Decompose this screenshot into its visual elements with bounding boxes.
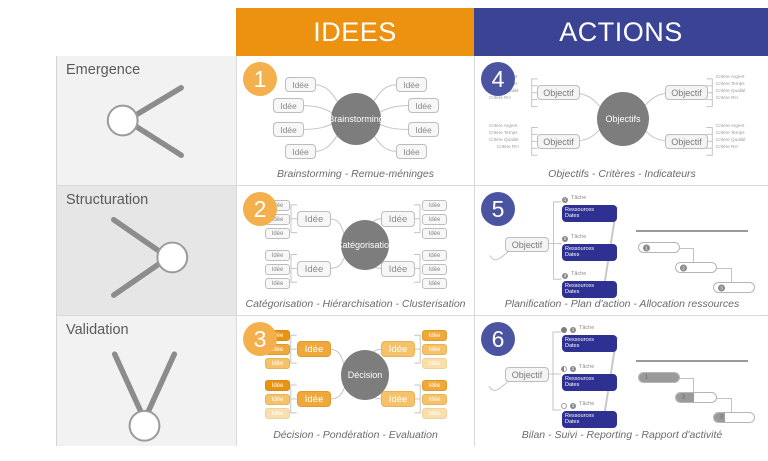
root-objectif: Objectif: [505, 367, 549, 382]
task-number: 1: [570, 327, 576, 333]
badge-5: 5: [481, 192, 515, 226]
sub-idee: Idée: [422, 394, 447, 405]
sub-idee: Idée: [422, 200, 447, 211]
sub-idee: Idée: [422, 358, 447, 369]
sub-idee: Idée: [265, 228, 290, 239]
diagram-cell-planification: 5 Objectif 1 Tâche Ressources Dates: [475, 186, 768, 315]
sub-idee: Idée: [422, 344, 447, 355]
criterion-label: Critère Temps: [489, 130, 518, 135]
sub-idee: Idée: [265, 408, 290, 419]
task-label: Tâche: [571, 195, 586, 201]
caption-brainstorming: Brainstorming - Remue-méninges: [237, 168, 474, 180]
criterion-label: Critère RH: [497, 144, 519, 149]
branch-idee: Idée: [297, 261, 331, 277]
criterion-label: Critère Argent: [716, 123, 744, 128]
branch-idee: Idée: [297, 341, 331, 357]
sub-idee: Idée: [265, 250, 290, 261]
task-detail-block: Ressources Dates: [562, 374, 617, 391]
leaf-idee: Idée: [408, 98, 439, 113]
row-validation: Validation 3: [57, 316, 767, 446]
badge-3: 3: [243, 322, 277, 356]
infographic-board: IDEES ACTIONS Emergence 1: [0, 0, 768, 461]
branch-idee: Idée: [297, 391, 331, 407]
task-number: 3: [570, 403, 576, 409]
task-detail-block: Ressources Dates: [562, 335, 617, 352]
sub-idee: Idée: [422, 214, 447, 225]
status-icon-empty: [561, 403, 567, 409]
branch-objectif: Objectif: [537, 85, 580, 100]
leaf-idee: Idée: [273, 98, 304, 113]
gantt-bar: 3: [713, 412, 755, 423]
status-icon-half: [561, 366, 567, 372]
branch-idee: Idée: [381, 341, 415, 357]
gantt-bar: 2: [675, 262, 717, 273]
task-label: Tâche: [579, 325, 594, 331]
task-label: Tâche: [579, 401, 594, 407]
task-detail-block: Ressources Dates: [562, 411, 617, 428]
gantt-bar: 1: [638, 372, 680, 383]
branch-idee: Idée: [297, 211, 331, 227]
task-number: 3: [562, 273, 568, 279]
criterion-label: Critère RH: [716, 95, 738, 100]
stage-cell-emergence: Emergence: [57, 56, 237, 185]
criterion-label: Critère Argent: [716, 74, 744, 79]
status-icon-full: [561, 327, 567, 333]
leaf-idee: Idée: [285, 144, 316, 159]
gantt-bar: 2: [675, 392, 717, 403]
criterion-label: Critère Qualité: [716, 88, 746, 93]
task-detail-dates: Dates: [565, 382, 614, 388]
diagram-cell-decision: 3: [237, 316, 475, 446]
badge-2: 2: [243, 192, 277, 226]
branch-idee: Idée: [381, 211, 415, 227]
sub-idee: Idée: [422, 228, 447, 239]
sub-idee: Idée: [265, 394, 290, 405]
caption-objectifs: Objectifs - Critères - Indicateurs: [475, 168, 768, 180]
leaf-idee: Idée: [396, 144, 427, 159]
diagram-cell-bilan: 6 Objectif 1 Tâche Ressources Dates: [475, 316, 768, 446]
criterion-label: Critère Temps: [716, 81, 745, 86]
header-idees-label: IDEES: [313, 17, 397, 48]
task-detail-dates: Dates: [565, 289, 614, 295]
caption-bilan: Bilan - Suivi - Reporting - Rapport d'ac…: [475, 429, 768, 441]
criterion-label: Critère Argent: [489, 123, 517, 128]
sub-idee: Idée: [422, 408, 447, 419]
header-idees: IDEES: [236, 8, 474, 56]
task-label: Tâche: [571, 271, 586, 277]
sub-idee: Idée: [422, 250, 447, 261]
sub-idee: Idée: [422, 380, 447, 391]
node-two-branches-up-icon: [57, 316, 236, 446]
gantt-bar-number: 1: [643, 374, 650, 381]
gantt-bar-number: 3: [718, 414, 725, 421]
task-number: 1: [562, 197, 568, 203]
gantt-bar: 1: [638, 242, 680, 253]
criterion-label: Critère Qualité: [716, 137, 746, 142]
sub-idee: Idée: [265, 380, 290, 391]
branch-objectif: Objectif: [665, 85, 708, 100]
gantt-bar-number: 1: [643, 244, 650, 251]
leaf-idee: Idée: [396, 77, 427, 92]
hub-brainstorming: Brainstorming: [331, 93, 381, 145]
branch-objectif: Objectif: [665, 134, 708, 149]
task-detail-block: Ressources Dates: [562, 244, 617, 261]
header-actions-label: ACTIONS: [559, 17, 683, 48]
task-label: Tâche: [571, 234, 586, 240]
gantt-bar: 3: [713, 282, 755, 293]
diagram-cell-objectifs: 4: [475, 56, 768, 185]
leaf-idee: Idée: [273, 122, 304, 137]
caption-categorisation: Catégorisation - Hiérarchisation - Clust…: [237, 298, 474, 310]
hub-objectifs: Objectifs: [597, 92, 649, 146]
sub-idee: Idée: [265, 264, 290, 275]
header-actions: ACTIONS: [474, 8, 768, 56]
gantt-bar-number: 2: [680, 394, 687, 401]
sub-idee: Idée: [422, 330, 447, 341]
diagram-cell-brainstorming: 1 Brainstorming Idée Idée: [237, 56, 475, 185]
task-detail-block: Ressources Dates: [562, 281, 617, 298]
branch-idee: Idée: [381, 261, 415, 277]
gantt-axis: [636, 360, 748, 362]
task-detail-block: Ressources Dates: [562, 205, 617, 222]
branch-objectif: Objectif: [537, 134, 580, 149]
sub-idee: Idée: [265, 278, 290, 289]
sub-idee: Idée: [422, 278, 447, 289]
gantt-bar-number: 3: [718, 284, 725, 291]
task-detail-dates: Dates: [565, 419, 614, 425]
task-number: 2: [562, 236, 568, 242]
leaf-idee: Idée: [285, 77, 316, 92]
diagram-cell-categorisation: 2: [237, 186, 475, 315]
node-two-branches-left-icon: [57, 186, 236, 315]
criterion-label: Critère RH: [716, 144, 738, 149]
sub-idee: Idée: [422, 264, 447, 275]
matrix-grid: Emergence 1: [56, 56, 768, 446]
task-detail-dates: Dates: [565, 343, 614, 349]
task-number: 2: [570, 366, 576, 372]
criterion-label: Critère Qualité: [489, 137, 519, 142]
criterion-label: Critère Temps: [716, 130, 745, 135]
sub-idee: Idée: [265, 358, 290, 369]
gantt-bar-number: 2: [680, 264, 687, 271]
stage-cell-structuration: Structuration: [57, 186, 237, 315]
task-label: Tâche: [579, 364, 594, 370]
leaf-idee: Idée: [408, 122, 439, 137]
row-structuration: Structuration 2: [57, 186, 767, 316]
badge-6: 6: [481, 322, 515, 356]
caption-decision: Décision - Pondération - Evaluation: [237, 429, 474, 441]
node-two-branches-right-icon: [57, 56, 236, 185]
branch-idee: Idée: [381, 391, 415, 407]
stage-cell-validation: Validation: [57, 316, 237, 446]
row-emergence: Emergence 1: [57, 56, 767, 186]
caption-planification: Planification - Plan d'action - Allocati…: [475, 298, 768, 310]
root-objectif: Objectif: [505, 237, 549, 252]
gantt-axis: [636, 230, 748, 232]
badge-1: 1: [243, 62, 277, 96]
task-detail-dates: Dates: [565, 252, 614, 258]
task-detail-dates: Dates: [565, 213, 614, 219]
badge-4: 4: [481, 62, 515, 96]
